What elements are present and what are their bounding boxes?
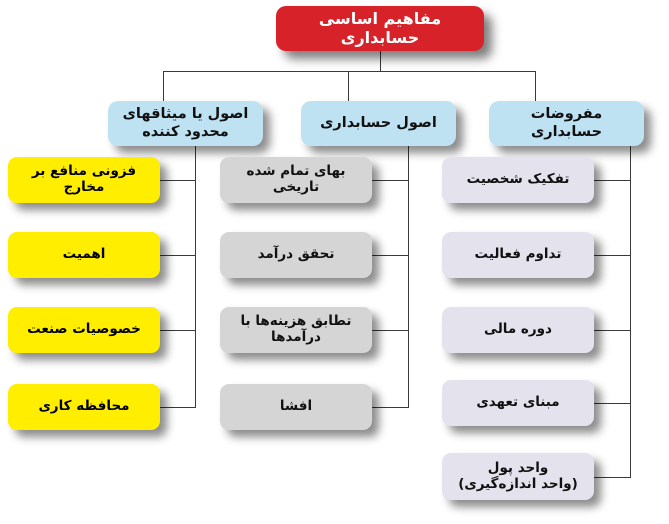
connector-root-stem xyxy=(380,51,381,72)
leaf-node-assumptions-2[interactable]: تداوم فعالیت xyxy=(442,232,594,278)
leaf-node-assumptions-5[interactable]: واحد پول (واحد اندازه‌گیری) xyxy=(442,453,594,500)
connector-branch-principles-4 xyxy=(372,407,409,408)
leaf-node-constraints-1-label: فزونی منافع بر مخارج xyxy=(8,164,160,196)
leaf-node-principles-2[interactable]: تحقق درآمد xyxy=(220,232,372,278)
connector-branch-principles-1 xyxy=(372,180,409,181)
category-node-principles-label: اصول حسابداری xyxy=(301,115,456,132)
connector-branch-constraints-2 xyxy=(160,255,196,256)
leaf-node-assumptions-2-label: تداوم فعالیت xyxy=(442,247,594,263)
connector-branch-assumptions-4 xyxy=(594,403,631,404)
root-node-label: مفاهیم اساسی حسابداری xyxy=(276,10,484,48)
category-node-constraints-label: اصول یا میثاقهای محدود کننده xyxy=(108,106,263,140)
connector-branch-constraints-3 xyxy=(160,330,196,331)
connector-branch-constraints-1 xyxy=(160,180,196,181)
connector-branch-assumptions-3 xyxy=(594,330,631,331)
connector-spine-assumptions xyxy=(630,146,631,477)
connector-branch-assumptions-2 xyxy=(594,255,631,256)
connector-spine-constraints xyxy=(195,146,196,408)
connector-drop-constraints xyxy=(163,71,164,102)
connector-branch-assumptions-5 xyxy=(594,477,631,478)
connector-drop-assumptions xyxy=(535,71,536,102)
leaf-node-assumptions-1-label: تفکیک شخصیت xyxy=(442,172,594,188)
connector-drop-principles xyxy=(348,71,349,102)
leaf-node-principles-4-label: افشا xyxy=(220,399,372,415)
leaf-node-principles-4[interactable]: افشا xyxy=(220,384,372,430)
leaf-node-constraints-3[interactable]: خصوصیات صنعت xyxy=(8,307,160,353)
leaf-node-assumptions-4[interactable]: مبنای تعهدی xyxy=(442,380,594,426)
leaf-node-assumptions-3-label: دوره مالی xyxy=(442,322,594,338)
root-node-basic-accounting-concepts[interactable]: مفاهیم اساسی حسابداری xyxy=(276,6,484,51)
leaf-node-principles-1[interactable]: بهای تمام شده تاریخی xyxy=(220,157,372,203)
leaf-node-principles-3[interactable]: تطابق هزینه‌ها با درآمدها xyxy=(220,307,372,353)
leaf-node-assumptions-3[interactable]: دوره مالی xyxy=(442,307,594,353)
leaf-node-principles-3-label: تطابق هزینه‌ها با درآمدها xyxy=(220,314,372,346)
org-chart-canvas: مفاهیم اساسی حسابداری اصول یا میثاقهای م… xyxy=(0,0,669,524)
category-node-assumptions-label: مفروضات حسابداری xyxy=(489,106,644,140)
connector-spine-principles xyxy=(408,146,409,408)
category-node-assumptions[interactable]: مفروضات حسابداری xyxy=(489,101,644,146)
leaf-node-assumptions-1[interactable]: تفکیک شخصیت xyxy=(442,157,594,203)
category-node-principles[interactable]: اصول حسابداری xyxy=(301,101,456,146)
leaf-node-constraints-2[interactable]: اهمیت xyxy=(8,232,160,278)
connector-branch-principles-2 xyxy=(372,255,409,256)
connector-branch-assumptions-1 xyxy=(594,180,631,181)
leaf-node-principles-1-label: بهای تمام شده تاریخی xyxy=(220,164,372,196)
leaf-node-assumptions-5-label: واحد پول (واحد اندازه‌گیری) xyxy=(442,461,594,493)
connector-branch-principles-3 xyxy=(372,330,409,331)
leaf-node-constraints-4-label: محافظه کاری xyxy=(8,399,160,415)
leaf-node-constraints-1[interactable]: فزونی منافع بر مخارج xyxy=(8,157,160,203)
leaf-node-constraints-4[interactable]: محافظه کاری xyxy=(8,384,160,430)
leaf-node-constraints-3-label: خصوصیات صنعت xyxy=(8,322,160,338)
leaf-node-constraints-2-label: اهمیت xyxy=(8,247,160,263)
leaf-node-principles-2-label: تحقق درآمد xyxy=(220,247,372,263)
connector-branch-constraints-4 xyxy=(160,407,196,408)
category-node-constraints[interactable]: اصول یا میثاقهای محدود کننده xyxy=(108,101,263,146)
connector-root-bus xyxy=(163,71,535,72)
leaf-node-assumptions-4-label: مبنای تعهدی xyxy=(442,395,594,411)
